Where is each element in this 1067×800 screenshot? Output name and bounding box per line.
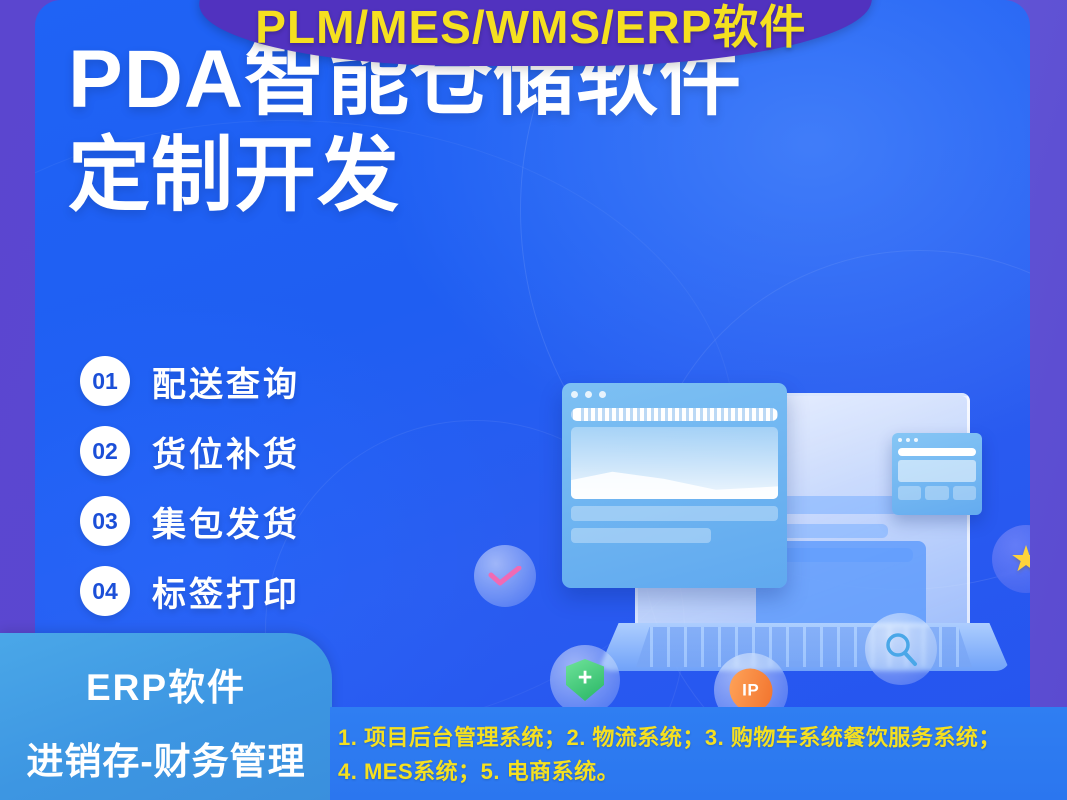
window-tile: [953, 486, 976, 500]
window-titlebar: [892, 433, 982, 446]
feature-list: 01 配送查询 02 货位补货 03 集包发货 04 标签打印: [80, 350, 380, 630]
window-tile: [925, 486, 948, 500]
systems-band: 1. 项目后台管理系统；2. 物流系统；3. 购物车系统餐饮服务系统； 4. M…: [330, 707, 1067, 800]
feature-label: 集包发货: [152, 497, 300, 546]
window-dot-icon: [571, 391, 578, 398]
systems-line-2: 4. MES系统；5. 电商系统。: [338, 755, 1067, 789]
ip-label: IP: [742, 680, 759, 700]
shield-badge: +: [550, 645, 620, 715]
window-url-bar: [898, 448, 976, 456]
window-dot-icon: [898, 438, 902, 442]
feature-label: 货位补货: [152, 427, 300, 476]
check-icon: [488, 566, 522, 586]
window-content-row: [571, 528, 711, 543]
feature-number-badge: 01: [80, 356, 130, 406]
feature-number-badge: 03: [80, 496, 130, 546]
feature-label: 标签打印: [152, 567, 300, 616]
erp-panel: ERP软件 进销存-财务管理: [0, 633, 332, 800]
feature-item-04: 04 标签打印: [80, 560, 380, 622]
window-tile: [898, 486, 921, 500]
feature-number-badge: 04: [80, 566, 130, 616]
feature-item-02: 02 货位补货: [80, 420, 380, 482]
window-dot-icon: [914, 438, 918, 442]
window-titlebar: [562, 383, 787, 405]
check-badge: [474, 545, 536, 607]
star-icon: ★: [1010, 541, 1030, 577]
browser-window-small: [892, 433, 982, 515]
window-chart: [571, 427, 778, 499]
window-content-row: [571, 506, 778, 521]
feature-number-badge: 02: [80, 426, 130, 476]
systems-line-1: 1. 项目后台管理系统；2. 物流系统；3. 购物车系统餐饮服务系统；: [338, 721, 1067, 755]
erp-panel-title: ERP软件: [0, 657, 332, 711]
plus-icon: +: [578, 666, 593, 691]
erp-panel-subtitle: 进销存-财务管理: [0, 731, 332, 785]
feature-item-01: 01 配送查询: [80, 350, 380, 412]
window-chart: [898, 460, 976, 482]
top-banner-text: PLM/MES/WMS/ERP软件: [256, 0, 807, 66]
feature-label: 配送查询: [152, 357, 300, 406]
laptop-illustration: + IP ★: [540, 355, 1030, 715]
window-dot-icon: [906, 438, 910, 442]
star-badge: ★: [992, 525, 1030, 593]
feature-item-03: 03 集包发货: [80, 490, 380, 552]
window-dot-icon: [599, 391, 606, 398]
shield-icon: +: [566, 659, 604, 701]
window-tiles: [898, 486, 976, 500]
window-dot-icon: [585, 391, 592, 398]
window-url-bar: [571, 408, 778, 421]
search-icon: [881, 629, 921, 669]
headline-line-2: 定制开发: [68, 134, 988, 218]
search-badge: [865, 613, 937, 685]
top-banner: PLM/MES/WMS/ERP软件: [189, 0, 874, 66]
browser-window-large: [562, 383, 787, 588]
